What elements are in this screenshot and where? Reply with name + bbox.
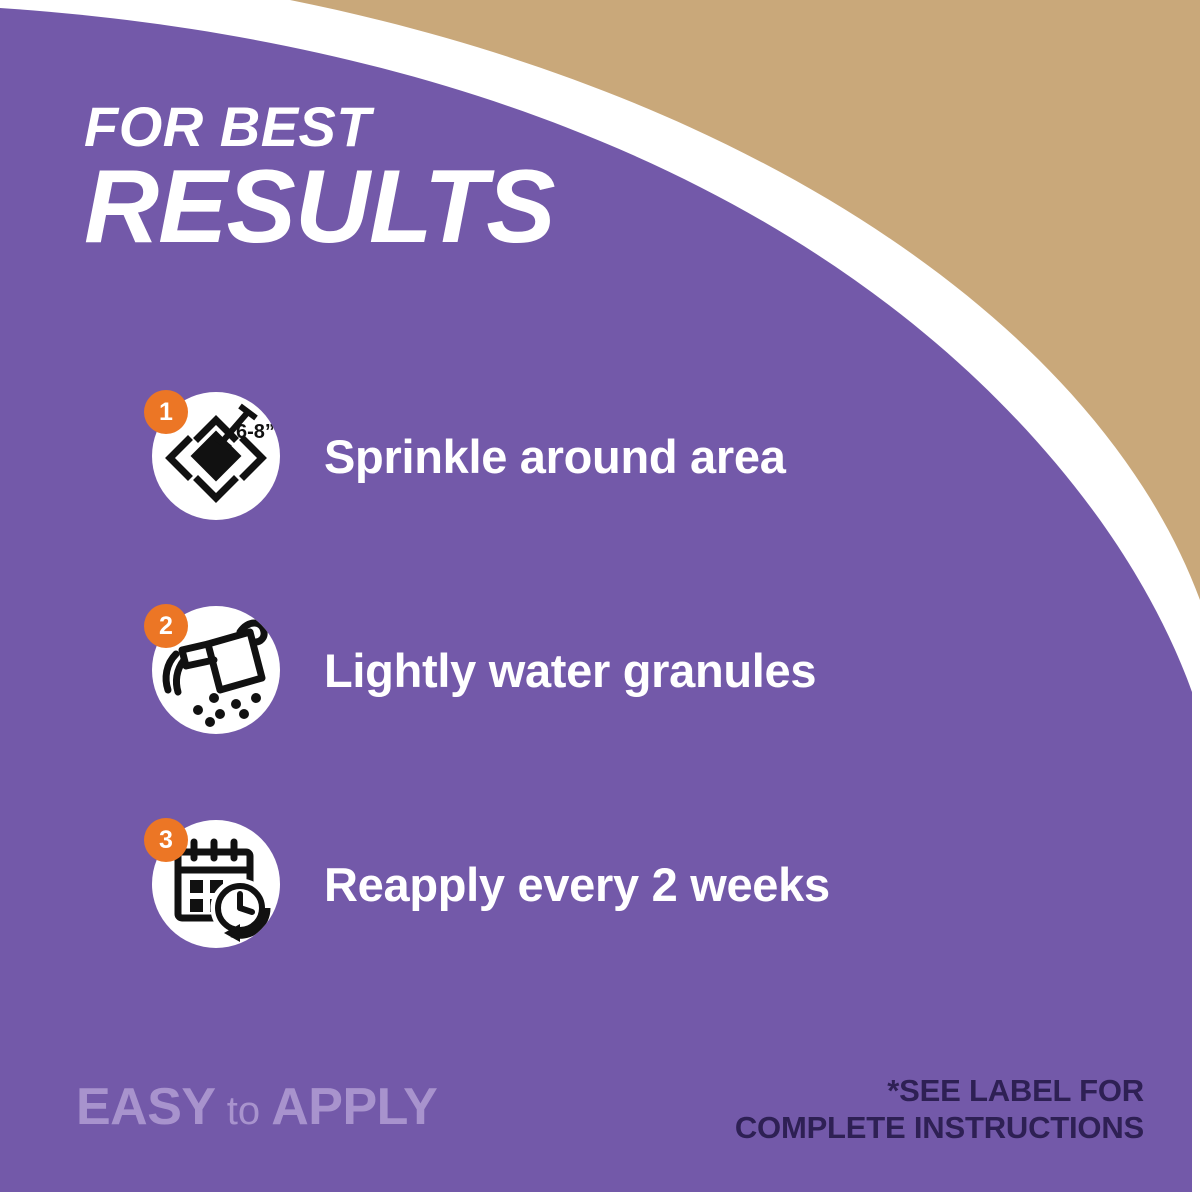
headline-line-2: RESULTS xyxy=(84,158,555,258)
step-1-number-badge: 1 xyxy=(144,390,188,434)
disclaimer-line-2: COMPLETE INSTRUCTIONS xyxy=(735,1110,1144,1147)
label-disclaimer: *SEE LABEL FOR COMPLETE INSTRUCTIONS xyxy=(735,1073,1144,1146)
step-item-1: 6-8” 1 Sprinkle around area xyxy=(0,382,1200,530)
step-1-icon-measure-label: 6-8” xyxy=(236,421,275,443)
step-1-label: Sprinkle around area xyxy=(324,429,786,484)
step-item-2: 2 Lightly water granules xyxy=(0,596,1200,744)
step-3-number-badge: 3 xyxy=(144,818,188,862)
easy-to-apply-tagline: EASY to APPLY xyxy=(76,1077,437,1137)
tagline-easy: EASY xyxy=(76,1078,216,1136)
infographic-canvas: FOR BEST RESULTS xyxy=(0,0,1200,1200)
tagline-apply: APPLY xyxy=(271,1078,437,1136)
step-3-label: Reapply every 2 weeks xyxy=(324,857,830,912)
step-2-label: Lightly water granules xyxy=(324,643,816,698)
headline-line-1: FOR BEST xyxy=(84,100,555,154)
step-1-icon-wrap: 6-8” 1 xyxy=(152,392,280,520)
step-item-3: 3 Reapply every 2 weeks xyxy=(0,810,1200,958)
step-2-number-badge: 2 xyxy=(144,604,188,648)
page-title: FOR BEST RESULTS xyxy=(84,100,555,258)
step-3-icon-wrap: 3 xyxy=(152,820,280,948)
step-2-icon-wrap: 2 xyxy=(152,606,280,734)
disclaimer-line-1: *SEE LABEL FOR xyxy=(735,1073,1144,1110)
steps-list: 6-8” 1 Sprinkle around area xyxy=(0,382,1200,958)
tagline-to: to xyxy=(216,1089,272,1133)
